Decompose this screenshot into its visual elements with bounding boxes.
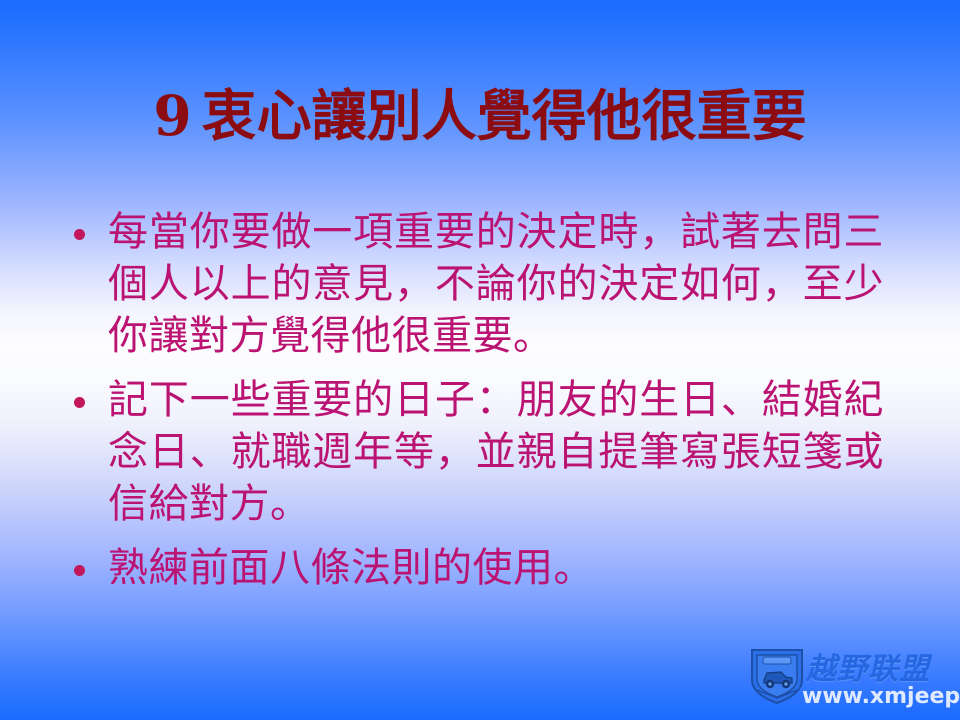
list-item-text: 熟練前面八條法則的使用。 bbox=[108, 542, 884, 594]
watermark-brand-text: 越野联盟 bbox=[806, 644, 930, 688]
list-item-text: 記下一些重要的日子：朋友的生日、結婚紀念日、就職週年等，並親自提筆寫張短箋或信給… bbox=[108, 374, 884, 530]
bullet-dot-icon bbox=[74, 229, 85, 240]
bullet-list: 每當你要做一項重要的決定時，試著去問三個人以上的意見，不論你的決定如何，至少你讓… bbox=[74, 206, 884, 606]
bullet-marker bbox=[74, 374, 108, 412]
page-title: 9衷心讓別人覺得他很重要 bbox=[153, 86, 806, 145]
presentation-slide: 9衷心讓別人覺得他很重要 每當你要做一項重要的決定時，試著去問三個人以上的意見，… bbox=[0, 0, 960, 720]
list-item: 記下一些重要的日子：朋友的生日、結婚紀念日、就職週年等，並親自提筆寫張短箋或信給… bbox=[74, 374, 884, 530]
title-text: 衷心讓別人覺得他很重要 bbox=[202, 83, 807, 148]
bullet-dot-icon bbox=[74, 565, 85, 576]
list-item-text: 每當你要做一項重要的決定時，試著去問三個人以上的意見，不論你的決定如何，至少你讓… bbox=[108, 206, 884, 362]
list-item: 熟練前面八條法則的使用。 bbox=[74, 542, 884, 594]
bullet-dot-icon bbox=[74, 397, 85, 408]
bullet-marker bbox=[74, 542, 108, 580]
title-block: 9衷心讓別人覺得他很重要 bbox=[0, 86, 960, 145]
watermark-url-text: www.xmjeep.com bbox=[802, 684, 960, 709]
list-item: 每當你要做一項重要的決定時，試著去問三個人以上的意見，不論你的決定如何，至少你讓… bbox=[74, 206, 884, 362]
jeep-shield-icon bbox=[748, 646, 806, 706]
bullet-marker bbox=[74, 206, 108, 244]
watermark: 越野联盟 www.xmjeep.com bbox=[744, 642, 958, 716]
title-number: 9 bbox=[153, 83, 201, 148]
